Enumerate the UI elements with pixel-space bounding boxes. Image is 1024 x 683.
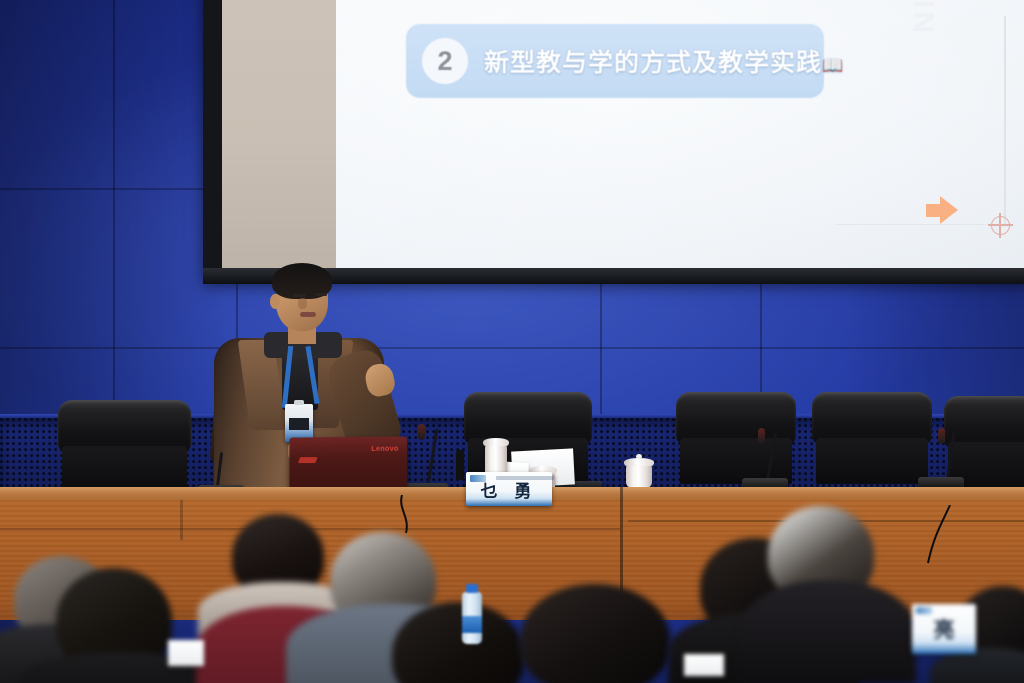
nameplate-text: 乜 勇	[481, 477, 538, 502]
slide-watermark: NIS	[908, 0, 942, 33]
chair-backrest	[58, 400, 191, 452]
table-seam	[180, 500, 183, 540]
chair-backrest	[944, 396, 1024, 448]
nameplate: 乜 勇	[466, 472, 552, 506]
badge-clip	[294, 400, 304, 405]
slide-horizontal-rule	[836, 224, 1006, 225]
speaker-eye	[293, 294, 306, 297]
laptop[interactable]: Lenovo	[290, 436, 407, 493]
screen-unlit-area	[222, 0, 336, 270]
id-badge	[285, 404, 313, 442]
chair-backrest	[812, 392, 932, 444]
speaker-eye	[315, 293, 327, 296]
water-bottle	[462, 592, 482, 644]
bottle-cap	[466, 584, 478, 593]
nameplate: 亮	[912, 604, 976, 654]
microphone-head	[418, 424, 425, 440]
chair-arm	[456, 450, 464, 480]
chair	[812, 392, 932, 492]
chair-backrest	[676, 392, 796, 444]
chair-lower-back	[816, 438, 928, 484]
chair	[58, 400, 191, 495]
cup-lid	[624, 458, 654, 466]
cup-knob	[636, 454, 642, 459]
laptop-brand-logo: Lenovo	[371, 446, 398, 453]
conference-room-photo: NIS 2 新型教与学的方式及教学实践📖	[0, 0, 1024, 683]
speaker-mouth	[300, 312, 316, 317]
wall-seam	[600, 284, 602, 424]
slide-vertical-rule	[1004, 16, 1006, 224]
nameplate-text: 亮	[934, 614, 955, 644]
bottle-label	[462, 616, 482, 633]
projection-screen-surface: NIS 2 新型教与学的方式及教学实践📖	[336, 0, 1024, 270]
microphone-head	[758, 428, 765, 444]
cable	[920, 505, 960, 565]
speaker-brow	[314, 287, 327, 290]
right-arrow-icon	[940, 196, 958, 224]
cup-lid	[483, 438, 509, 446]
crosshair-icon	[991, 216, 1010, 235]
badge-photo	[289, 418, 309, 430]
microphone-head	[938, 428, 945, 444]
chair-backrest	[464, 392, 592, 444]
audience-shoulders	[740, 580, 916, 683]
slide-section-banner: 2 新型教与学的方式及教学实践📖	[406, 24, 824, 98]
nameplate-logo	[470, 475, 486, 482]
audience-document	[684, 654, 724, 676]
nameplate-logo	[916, 607, 932, 614]
speaker-ear	[270, 294, 280, 309]
cable	[396, 495, 436, 535]
book-icon: 📖	[822, 56, 844, 75]
slide-title: 新型教与学的方式及教学实践📖	[484, 43, 844, 79]
slide-number-badge: 2	[422, 38, 468, 84]
slide-title-text: 新型教与学的方式及教学实践	[484, 49, 822, 77]
nameplate-subtext	[496, 476, 554, 480]
tea-cup	[626, 464, 652, 488]
audience-document	[168, 640, 204, 666]
audience-head	[520, 584, 670, 683]
speaker-nose	[298, 298, 307, 309]
laptop-accent-stripe	[298, 457, 318, 463]
speaker-brow	[292, 288, 307, 291]
chair-lower-back	[62, 446, 187, 492]
chair	[676, 392, 796, 492]
